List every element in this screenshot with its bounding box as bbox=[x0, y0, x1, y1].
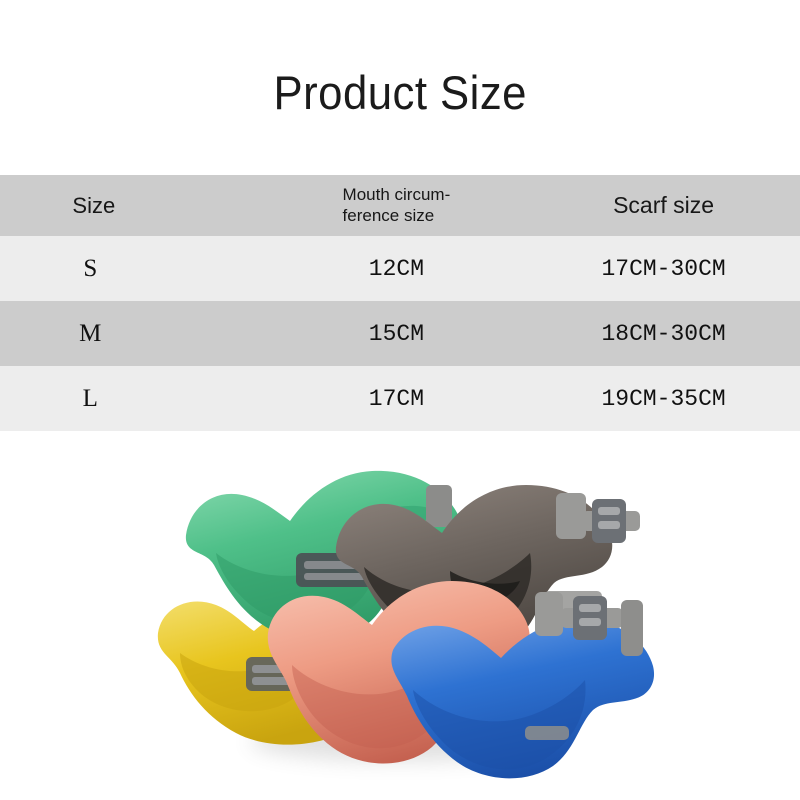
cell-size: S bbox=[0, 236, 266, 301]
table-row: S 12CM 17CM-30CM bbox=[0, 236, 800, 301]
page-title: Product Size bbox=[273, 69, 526, 116]
cell-mouth-circumference-value: 15CM bbox=[369, 321, 424, 347]
cell-scarf-size: 17CM-30CM bbox=[531, 236, 800, 301]
column-header-mouth-circumference: Mouth circum-ference size bbox=[266, 175, 532, 236]
cell-scarf-size-value: 17CM-30CM bbox=[601, 256, 725, 282]
table-row: L 17CM 19CM-35CM bbox=[0, 366, 800, 431]
cell-size-value: S bbox=[83, 255, 98, 282]
column-header-mouth-circumference-label: Mouth circum-ference size bbox=[343, 185, 451, 226]
muzzle-blue bbox=[385, 586, 705, 799]
title-block: Product Size bbox=[0, 0, 800, 175]
cell-scarf-size-value: 19CM-35CM bbox=[601, 386, 725, 412]
cell-mouth-circumference: 15CM bbox=[266, 301, 532, 366]
cell-size-value: M bbox=[79, 320, 102, 347]
cell-mouth-circumference: 17CM bbox=[266, 366, 532, 431]
cell-size-value: L bbox=[83, 385, 99, 412]
column-header-size: Size bbox=[0, 175, 266, 236]
cell-mouth-circumference: 12CM bbox=[266, 236, 532, 301]
cell-scarf-size: 19CM-35CM bbox=[531, 366, 800, 431]
cell-mouth-circumference-value: 17CM bbox=[369, 386, 424, 412]
cell-mouth-circumference-value: 12CM bbox=[369, 256, 424, 282]
table-row: M 15CM 18CM-30CM bbox=[0, 301, 800, 366]
cell-scarf-size-value: 18CM-30CM bbox=[601, 321, 725, 347]
cell-scarf-size: 18CM-30CM bbox=[531, 301, 800, 366]
table-header-row: Size Mouth circum-ference size Scarf siz… bbox=[0, 175, 800, 236]
cell-size: L bbox=[0, 366, 266, 431]
column-header-size-label: Size bbox=[72, 193, 115, 218]
product-size-table: Size Mouth circum-ference size Scarf siz… bbox=[0, 175, 800, 431]
column-header-scarf-size: Scarf size bbox=[531, 175, 800, 236]
mouth-label-line2: ference size bbox=[343, 206, 435, 225]
column-header-scarf-size-label: Scarf size bbox=[613, 192, 714, 218]
cell-size: M bbox=[0, 301, 266, 366]
product-photo-stage bbox=[0, 431, 800, 799]
mouth-label-line1: Mouth circum- bbox=[343, 185, 451, 204]
product-photo bbox=[0, 431, 800, 799]
